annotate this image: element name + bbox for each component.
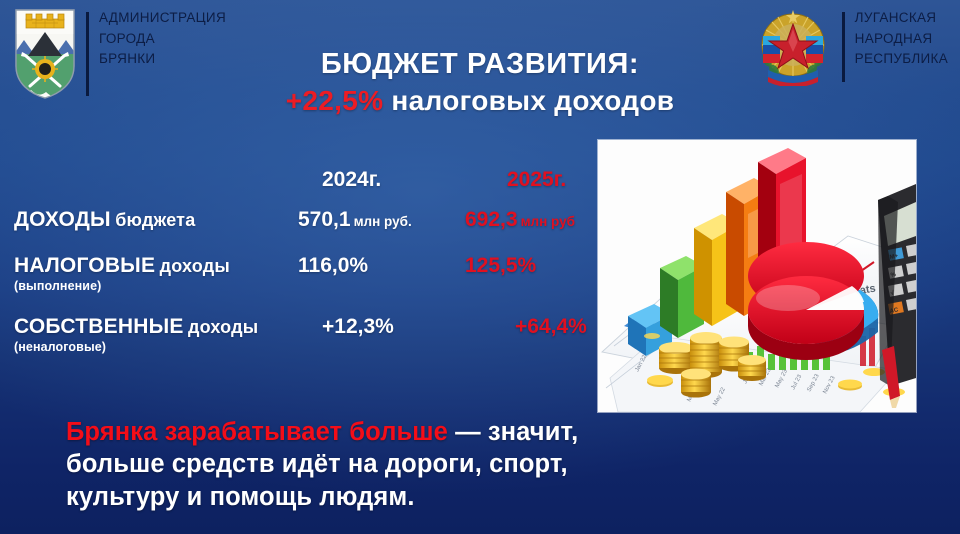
value-2025: +64,4%: [515, 315, 587, 338]
row-label-dohody-byudzheta: ДОХОДЫ бюджета: [14, 208, 294, 232]
header-right-org-name: ЛУГАНСКАЯ НАРОДНАЯ РЕСПУБЛИКА: [855, 8, 948, 70]
lnr-line-1: ЛУГАНСКАЯ: [855, 8, 948, 29]
lnr-line-2: НАРОДНАЯ: [855, 29, 948, 50]
value-2024: +12,3%: [322, 315, 394, 338]
row-label-strong: ДОХОДЫ: [14, 208, 111, 231]
header-right-branding: ЛУГАНСКАЯ НАРОДНАЯ РЕСПУБЛИКА: [754, 8, 948, 86]
row-value-2025: 125,5%: [463, 254, 600, 278]
org-line-3: БРЯНКИ: [99, 49, 226, 70]
row-label-note: (выполнение): [14, 279, 294, 293]
table-row: НАЛОГОВЫЕ доходы (выполнение) 116,0% 125…: [14, 254, 594, 293]
table-row: ДОХОДЫ бюджета 570,1млн руб. 692,3млн ру…: [14, 208, 594, 232]
header-right-divider: [842, 12, 845, 82]
title-highlight-percent: +22,5%: [286, 85, 384, 116]
lnr-state-emblem-icon: [754, 8, 832, 86]
caption-line3: культуру и помощь людям.: [66, 483, 415, 511]
table-header-2024: 2024г.: [294, 168, 487, 192]
caption-highlight: Брянка зарабатывает больше: [66, 418, 448, 446]
finance-charts-photo: n stats: [598, 140, 916, 412]
slide-root: АДМИНИСТРАЦИЯ ГОРОДА БРЯНКИ: [0, 0, 960, 534]
budget-table: 2024г. 2025г. ДОХОДЫ бюджета 570,1млн ру…: [14, 168, 594, 376]
org-line-1: АДМИНИСТРАЦИЯ: [99, 8, 226, 29]
header-left-divider: [86, 12, 89, 96]
value-2024-unit: млн руб.: [354, 214, 412, 229]
row-label-light: доходы: [160, 256, 230, 276]
row-value-2024: 116,0%: [294, 254, 463, 278]
row-label-note: (неналоговые): [14, 340, 294, 354]
slide-caption: Брянка зарабатывает больше — значит, бол…: [66, 416, 896, 513]
column-header-2025: 2025г.: [507, 168, 566, 191]
header-left-branding: АДМИНИСТРАЦИЯ ГОРОДА БРЯНКИ: [14, 8, 226, 100]
value-2024: 116,0%: [298, 254, 368, 277]
header-left-org-name: АДМИНИСТРАЦИЯ ГОРОДА БРЯНКИ: [99, 8, 226, 70]
row-label-light: бюджета: [115, 210, 195, 230]
row-label-sobstvennye-dohody: СОБСТВЕННЫЕ доходы (неналоговые): [14, 315, 294, 354]
value-2025-unit: млн руб: [521, 214, 575, 229]
row-label-light: доходы: [188, 317, 258, 337]
caption-line1-rest: — значит,: [448, 418, 578, 446]
row-label-strong: СОБСТВЕННЫЕ: [14, 315, 184, 338]
row-label-nalogovye-dohody: НАЛОГОВЫЕ доходы (выполнение): [14, 254, 294, 293]
table-header-row: 2024г. 2025г.: [14, 168, 594, 192]
row-value-2024: +12,3%: [294, 315, 487, 339]
row-value-2025: 692,3млн руб: [463, 208, 600, 232]
value-2024: 570,1: [298, 208, 351, 231]
row-label-strong: НАЛОГОВЫЕ: [14, 254, 155, 277]
lnr-line-3: РЕСПУБЛИКА: [855, 49, 948, 70]
table-row: СОБСТВЕННЫЕ доходы (неналоговые) +12,3% …: [14, 315, 594, 354]
column-header-2024: 2024г.: [322, 168, 381, 191]
row-value-2024: 570,1млн руб.: [294, 208, 463, 232]
value-2025: 125,5%: [465, 254, 536, 277]
title-subtitle-text: налоговых доходов: [391, 85, 674, 116]
bryanka-coat-of-arms-icon: [14, 8, 76, 100]
org-line-2: ГОРОДА: [99, 29, 226, 50]
value-2025: 692,3: [465, 208, 518, 231]
caption-line2: больше средств идёт на дороги, спорт,: [66, 450, 568, 478]
